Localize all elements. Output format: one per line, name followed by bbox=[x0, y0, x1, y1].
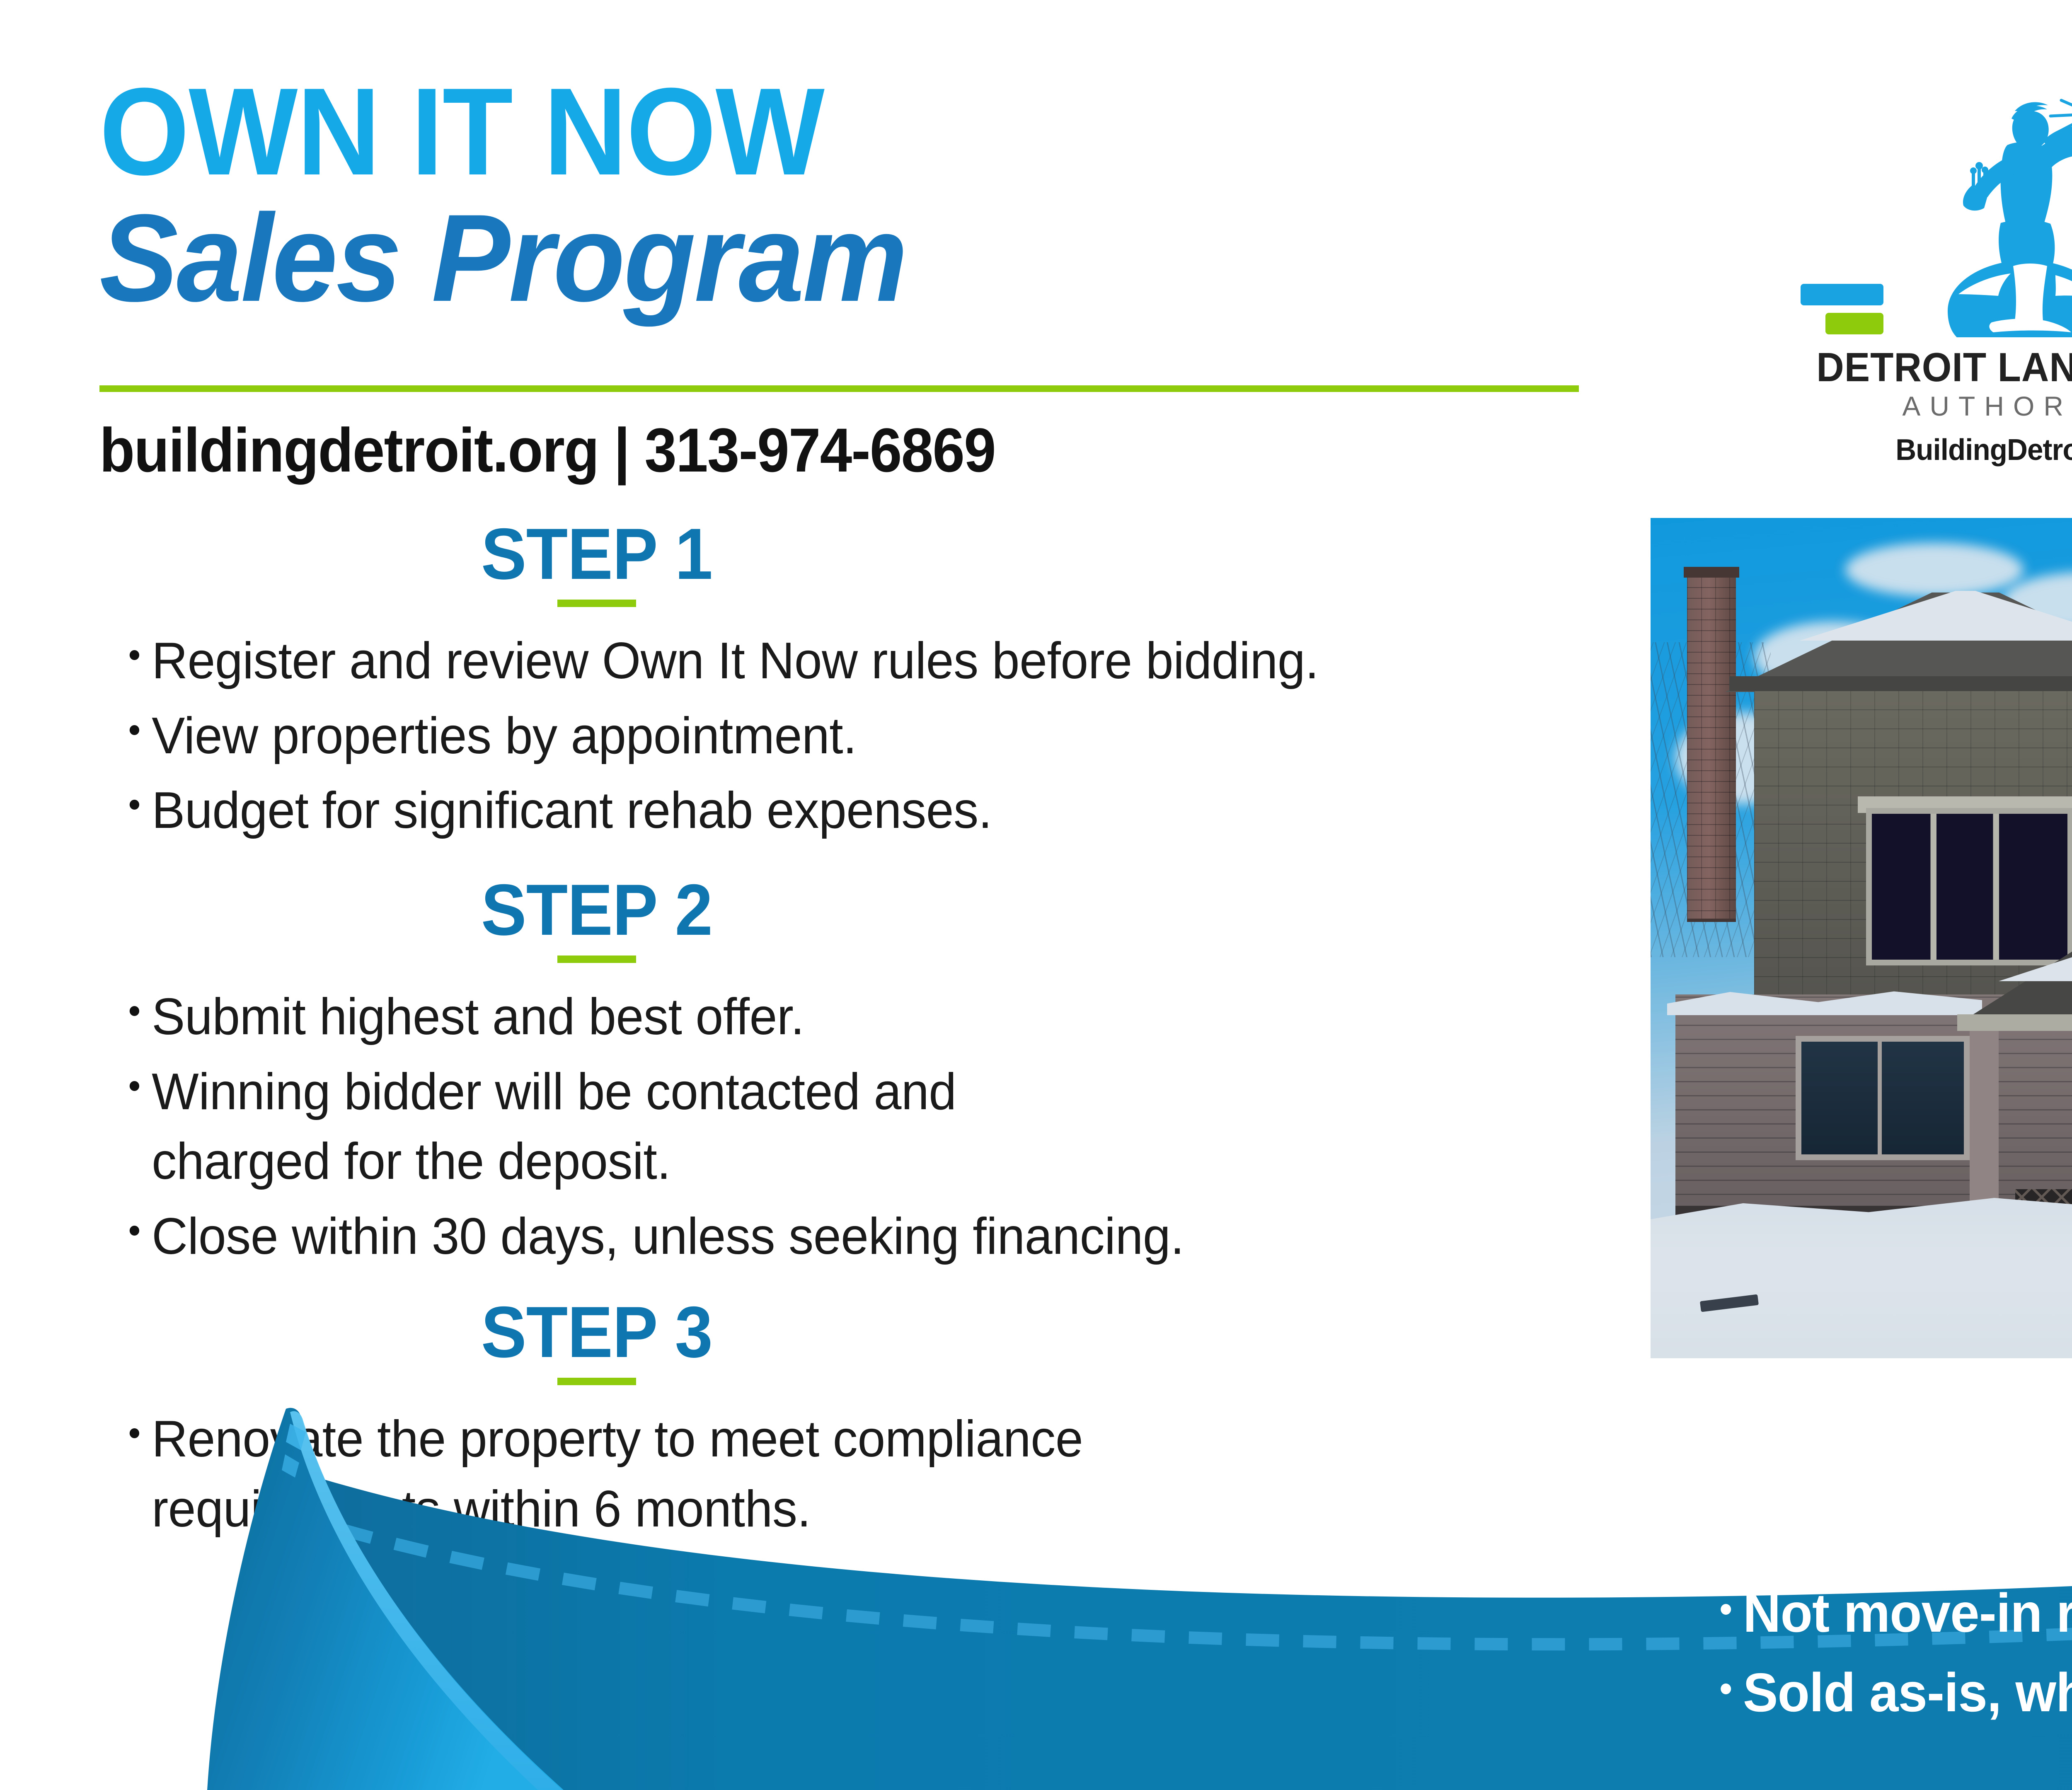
step-1-bullets: Register and review Own It Now rules bef… bbox=[99, 626, 1575, 846]
spirit-of-detroit-icon bbox=[1919, 79, 2072, 344]
step-2-title: STEP 2 bbox=[129, 874, 1064, 946]
photo-porch-trim bbox=[1957, 1014, 2072, 1031]
header-green-divider bbox=[99, 385, 1579, 392]
step-3-title: STEP 3 bbox=[129, 1296, 1064, 1369]
flyer-page: OWN IT NOW Sales Program buildingdetroit… bbox=[0, 0, 2072, 1790]
title-line-sales-program: Sales Program bbox=[99, 196, 1517, 320]
photo-lower-window bbox=[1796, 1036, 1970, 1160]
photo-chimney-cap bbox=[1684, 567, 1739, 578]
step-1-underline bbox=[557, 600, 636, 607]
page-title: OWN IT NOW Sales Program bbox=[99, 70, 1591, 320]
detroit-land-bank-logo: DETROIT LAND BANK AUTHORITY BuildingDetr… bbox=[1782, 79, 2072, 447]
step-1-title: STEP 1 bbox=[129, 518, 1064, 590]
logo-name: DETROIT LAND BANK bbox=[1796, 344, 2072, 391]
list-item: Submit highest and best offer. bbox=[99, 982, 1530, 1052]
photo-cloud bbox=[1845, 543, 2024, 597]
logo-bar-green-left bbox=[1825, 313, 1883, 334]
logo-bar-blue-left bbox=[1801, 284, 1883, 305]
photo-roof-eave bbox=[1729, 676, 2072, 691]
list-item: Winning bidder will be contacted and cha… bbox=[99, 1057, 1140, 1197]
logo-accent-bars-left bbox=[1801, 284, 1883, 334]
step-3-underline bbox=[557, 1378, 636, 1385]
list-item: Not move-in ready bbox=[1703, 1573, 2072, 1652]
step-2-underline bbox=[557, 955, 636, 963]
step-1-heading: STEP 1 bbox=[99, 518, 1094, 607]
photo-upper-window bbox=[1866, 808, 2072, 965]
step-block-1: STEP 1 Register and review Own It Now ru… bbox=[99, 518, 1575, 846]
photo-porch-column bbox=[1970, 1031, 1999, 1205]
list-item: Sold as-is, where-is bbox=[1703, 1653, 2072, 1732]
step-2-bullets: Submit highest and best offer. Winning b… bbox=[99, 982, 1575, 1272]
footer-disclaimer-bullets: Not move-in ready Sold as-is, where-is bbox=[1703, 1573, 2072, 1732]
photo-brick-chimney bbox=[1687, 570, 1736, 922]
list-item: View properties by appointment. bbox=[99, 701, 1530, 771]
step-block-2: STEP 2 Submit highest and best offer. Wi… bbox=[99, 874, 1575, 1272]
list-item: Budget for significant rehab expenses. bbox=[99, 776, 1530, 846]
title-line-own-it-now: OWN IT NOW bbox=[99, 70, 1487, 192]
logo-url[interactable]: BuildingDetroit.org bbox=[1791, 433, 2072, 467]
step-3-heading: STEP 3 bbox=[99, 1296, 1094, 1385]
step-2-heading: STEP 2 bbox=[99, 874, 1094, 963]
list-item: Register and review Own It Now rules bef… bbox=[99, 626, 1530, 696]
property-photo bbox=[1651, 518, 2072, 1358]
contact-info[interactable]: buildingdetroit.org | 313-974-6869 bbox=[99, 414, 995, 486]
logo-subtitle: AUTHORITY bbox=[1782, 390, 2072, 422]
list-item: Close within 30 days, unless seeking fin… bbox=[99, 1202, 1530, 1272]
